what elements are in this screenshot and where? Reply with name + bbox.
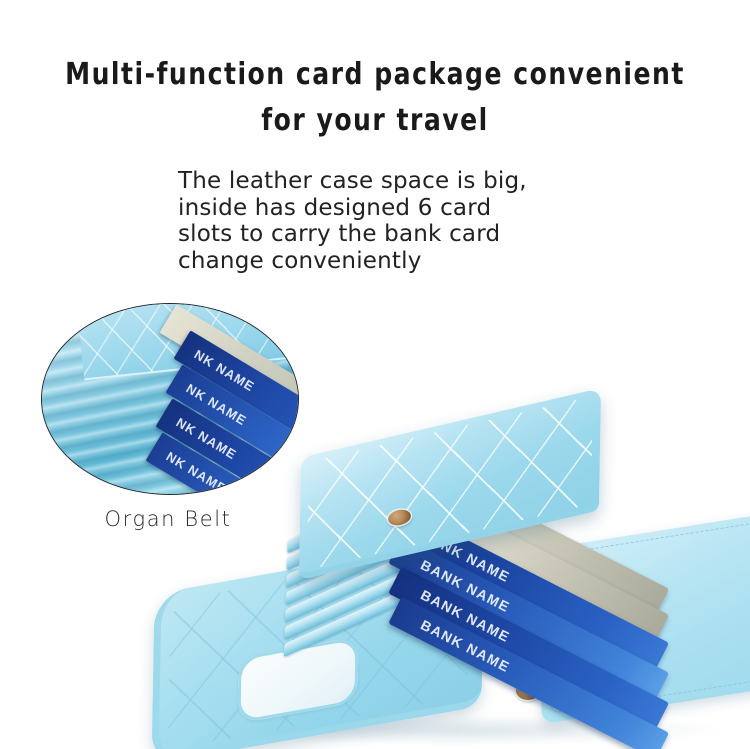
- product-photo: BANK BANK NAME BANK NAME BANK NAME BANK …: [145, 415, 750, 749]
- description-line-3: slots to carry the bank card: [178, 221, 598, 248]
- description-line-2: inside has designed 6 card: [178, 195, 598, 222]
- description-paragraph: The leather case space is big, inside ha…: [178, 168, 598, 274]
- poster-canvas: Multi-function card package convenient f…: [0, 0, 750, 749]
- headline-line-2: for your travel: [26, 98, 724, 144]
- page-title: Multi-function card package convenient f…: [26, 52, 724, 144]
- headline-line-1: Multi-function card package convenient: [26, 52, 724, 98]
- description-line-4: change conveniently: [178, 248, 598, 275]
- description-line-1: The leather case space is big,: [178, 168, 598, 195]
